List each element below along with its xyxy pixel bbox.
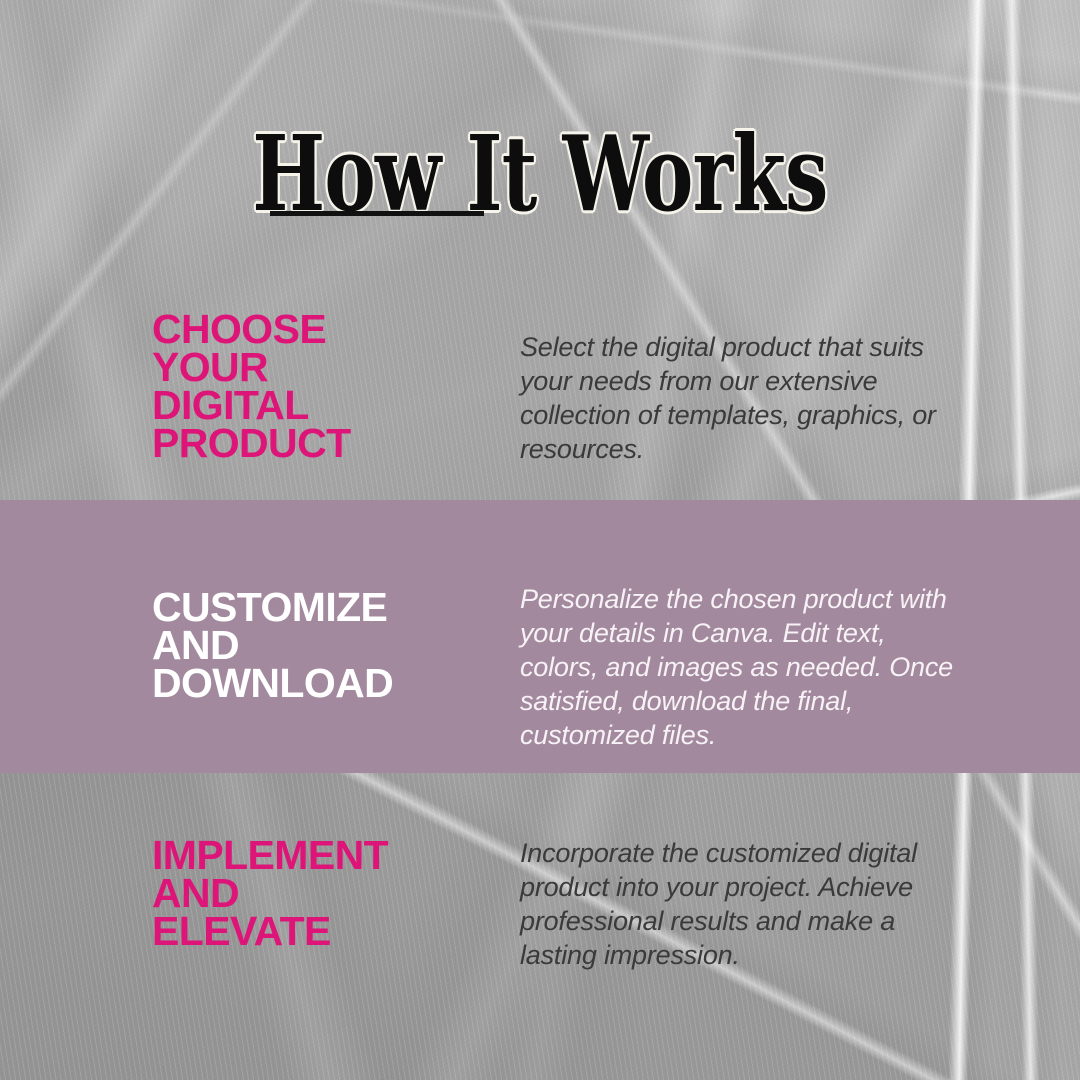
step-3-description: Incorporate the customized digital produ… <box>520 836 952 972</box>
step-2-heading: CUSTOMIZE AND DOWNLOAD <box>152 588 492 702</box>
how-it-works-poster: How It Works CHOOSE YOUR DIGITAL PRODUCT… <box>0 0 1080 1080</box>
step-1-description: Select the digital product that suits yo… <box>520 330 952 466</box>
poster-content: How It Works CHOOSE YOUR DIGITAL PRODUCT… <box>0 0 1080 1080</box>
page-title: How It Works <box>140 122 939 226</box>
step-1-heading: CHOOSE YOUR DIGITAL PRODUCT <box>152 310 482 462</box>
step-3-heading: IMPLEMENT AND ELEVATE <box>152 836 482 950</box>
step-2-description: Personalize the chosen product with your… <box>520 582 962 752</box>
title-divider-rule <box>270 211 484 216</box>
